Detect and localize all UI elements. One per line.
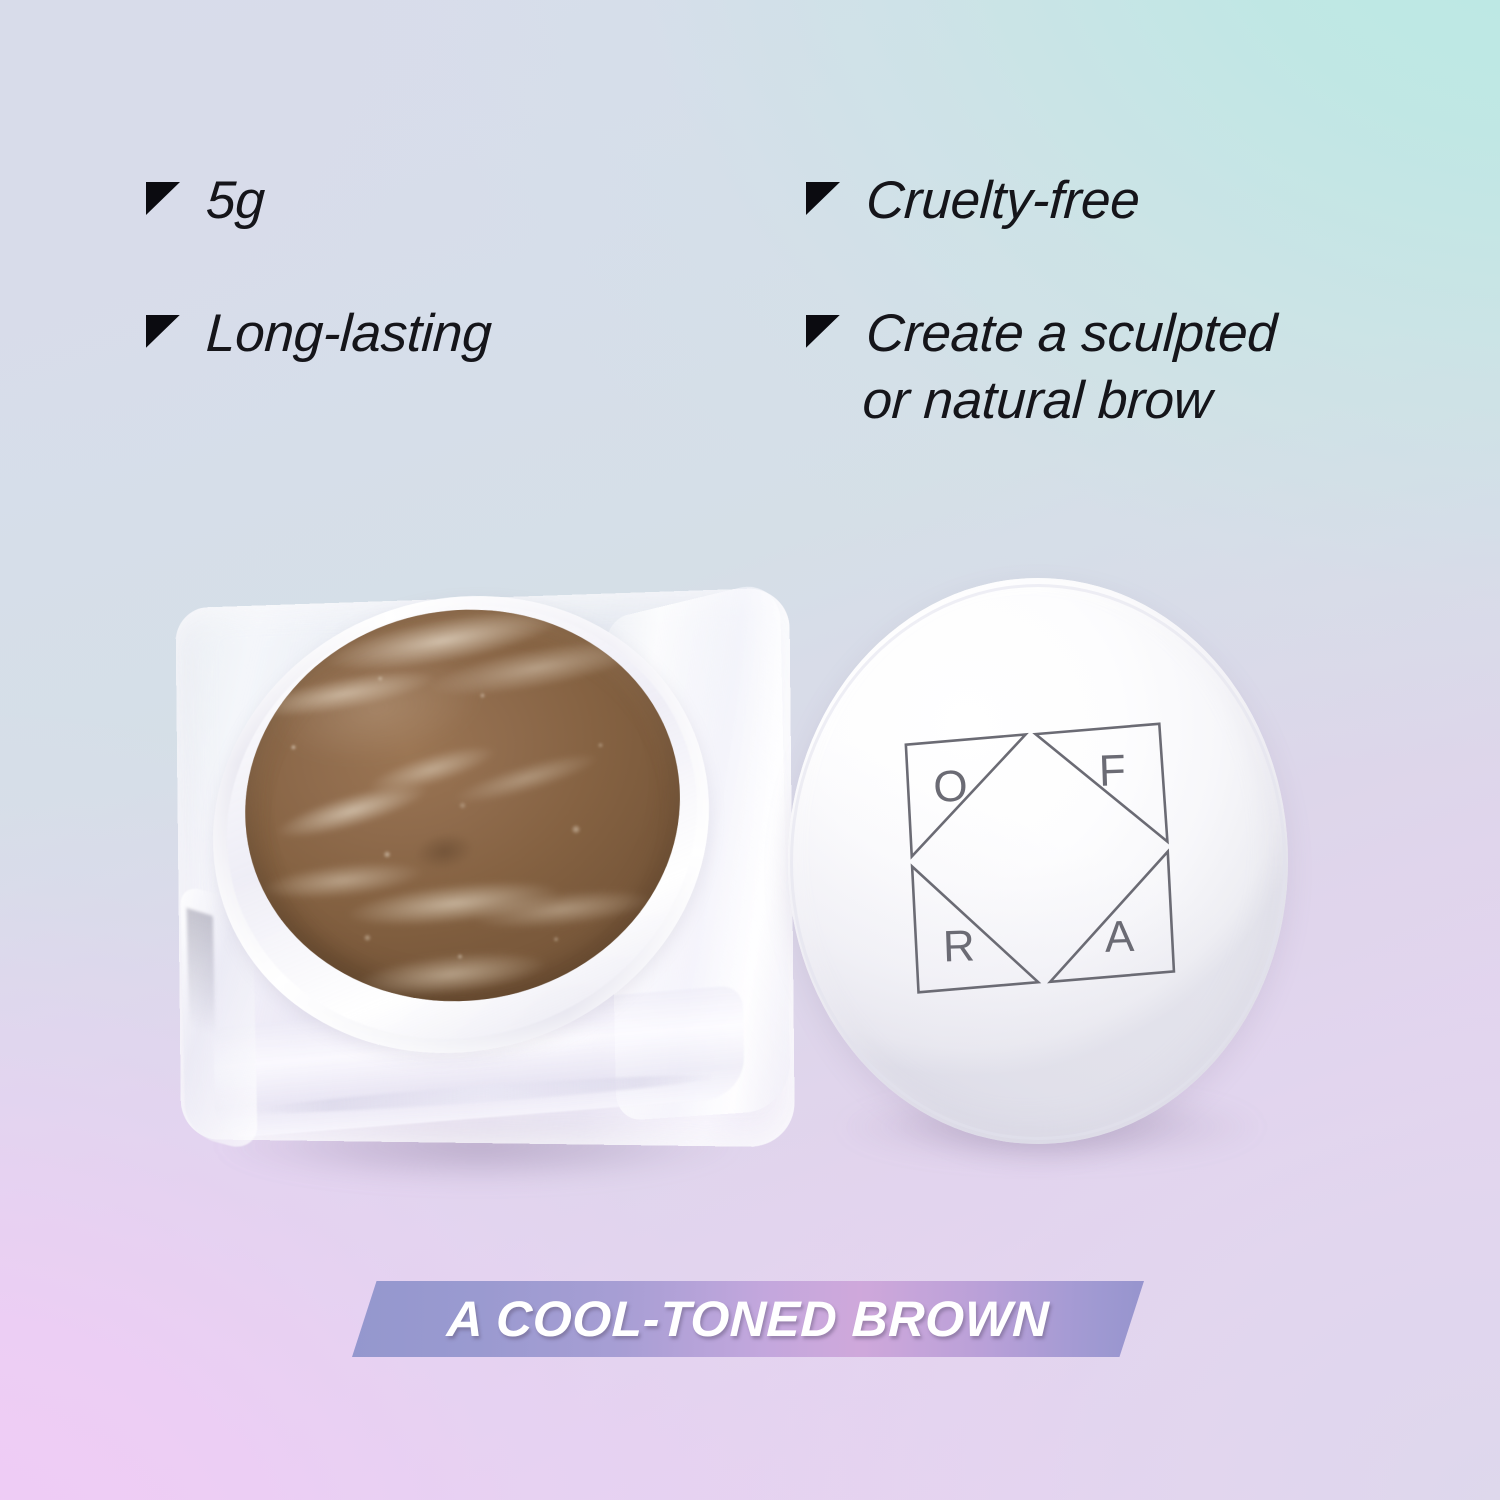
triangle-bullet-icon [806,182,840,215]
logo-letter-r: R [942,921,975,971]
jar-base-edge [247,1069,717,1119]
pomade-streaks [213,575,711,1036]
logo-triangle-f [1035,724,1167,846]
glass-jar [144,581,826,1165]
lid-contact-shadow [800,1082,1300,1172]
triangle-bullet-icon [146,182,180,215]
feature-column-right: Cruelty-free Create a sculpted or natura… [806,168,1406,500]
feature-item-sculpted-brow: Create a sculpted or natural brow [806,301,1406,435]
shade-banner: A COOL-TONED BROWN [352,1281,1144,1357]
pomade-streaks [213,575,711,1036]
ofra-logo-mark: O F R A [901,721,1180,1000]
logo-triangle-r [912,862,1038,992]
jar-glass-body [175,587,795,1147]
jar-glass-swirl [348,1009,650,1072]
product-feature-card: 5g Long-lasting Cruelty-free Create a sc… [0,0,1500,1500]
logo-triangle-a [1046,852,1174,982]
jar-left-highlight [180,884,258,1153]
feature-label: Create a sculpted or natural brow [861,301,1278,435]
feature-label: Cruelty-free [865,168,1142,235]
pomade-sheen [262,627,552,805]
lid-edge-ring [790,584,1286,1140]
jar-glass-swirl [290,958,655,1060]
pomade-speckles [213,575,711,1036]
jar-glass-base [213,985,745,1140]
triangle-bullet-icon [806,315,840,348]
jar-lid: O F R A [788,578,1288,1144]
ofra-logo: O F R A [901,721,1180,1000]
logo-triangle-o [906,734,1030,856]
jar-corner-shade [187,908,216,1036]
jar-rim-outer [180,553,743,1097]
pomade-dip [407,827,483,881]
logo-letter-f: F [1098,746,1127,796]
lid-surface [788,578,1288,1144]
jar-contact-shadow [168,1098,788,1194]
feature-column-left: 5g Long-lasting [146,168,726,434]
feature-item-weight: 5g [146,168,726,235]
feature-item-cruelty-free: Cruelty-free [806,168,1406,235]
brow-pomade [213,575,711,1036]
banner-label: A COOL-TONED BROWN [351,1281,1146,1357]
jar-glass-facet [606,578,791,1121]
triangle-bullet-icon [146,315,180,348]
jar-rim-inner [195,565,728,1080]
feature-label: 5g [205,168,267,235]
logo-letter-a: A [1104,912,1136,962]
lid-shading [788,578,1288,1144]
pomade-surface [213,575,711,1036]
feature-item-long-lasting: Long-lasting [146,301,726,368]
pomade-streaks [213,575,711,1036]
logo-letter-o: O [933,762,969,812]
feature-label: Long-lasting [205,301,494,368]
